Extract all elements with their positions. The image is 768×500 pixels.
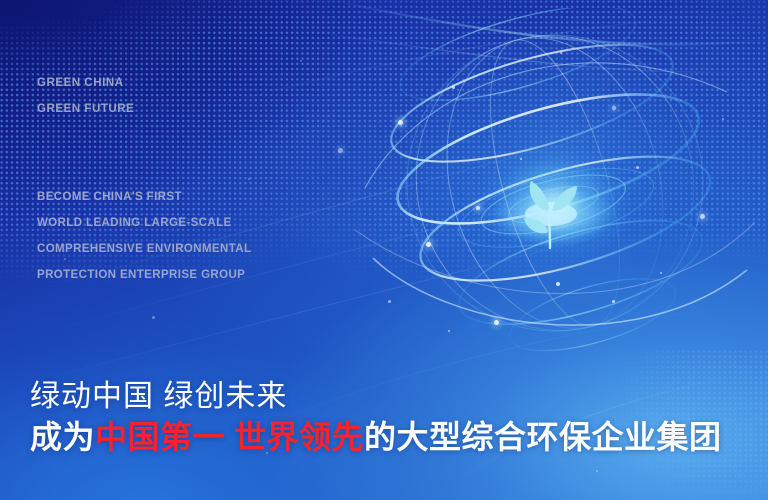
english-slogan-line-1: BECOME CHINA'S FIRST <box>37 184 251 210</box>
wireframe-globe <box>355 8 755 368</box>
headline-highlight-china-first: 中国第一 <box>95 419 225 455</box>
tagline-line-2: GREEN FUTURE <box>37 96 134 122</box>
headline-prefix: 成为 <box>30 419 95 455</box>
english-slogan-line-3: COMPREHENSIVE ENVIRONMENTAL <box>37 236 251 262</box>
headline-line-1: 绿动中国 绿创未来 <box>30 378 750 416</box>
headline-line-2: 成为中国第一世界领先的大型综合环保企业集团 <box>30 416 750 458</box>
headline-highlight-world-leading: 世界领先 <box>234 419 364 455</box>
english-slogan-line-4: PROTECTION ENTERPRISE GROUP <box>37 262 251 288</box>
headline-block: 绿动中国 绿创未来 成为中国第一世界领先的大型综合环保企业集团 <box>30 378 750 458</box>
headline-suffix: 的大型综合环保企业集团 <box>364 419 722 455</box>
green-china-banner: GREEN CHINA GREEN FUTURE BECOME CHINA'S … <box>0 0 768 500</box>
english-slogan-line-2: WORLD LEADING LARGE-SCALE <box>37 210 251 236</box>
tagline-block: GREEN CHINA GREEN FUTURE <box>37 70 134 122</box>
sprout-seedling-icon <box>507 160 593 252</box>
english-slogan-block: BECOME CHINA'S FIRST WORLD LEADING LARGE… <box>37 184 251 288</box>
tagline-line-1: GREEN CHINA <box>37 70 134 96</box>
